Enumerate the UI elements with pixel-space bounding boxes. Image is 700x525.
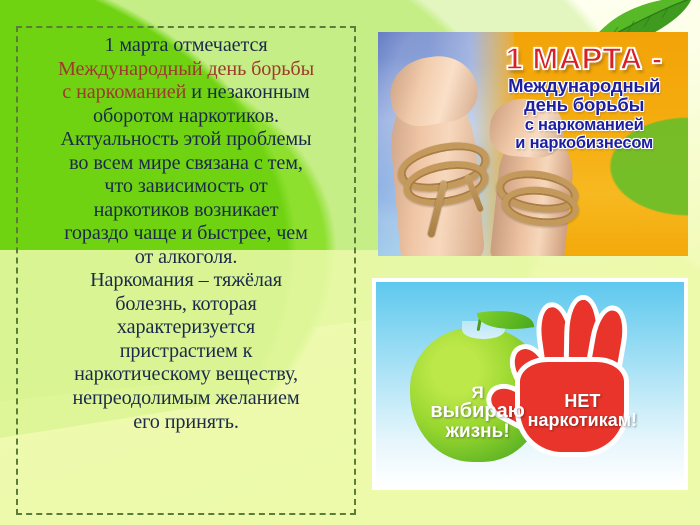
text-line-16: непреодолимым желанием [72,387,299,409]
text-line-8: наркотиков возникает [94,199,279,221]
text-line-17: его принять. [133,411,239,433]
text-line-2: Международный день борьбы [58,58,314,80]
poster-top-headline: 1 МАРТА - [483,43,685,75]
text-line-15: наркотическому веществу, [74,363,298,385]
text-line-1: 1 марта отмечается [104,34,267,56]
hand-line-2: наркотикам! [521,411,644,430]
text-line-7: что зависимость от [104,175,267,197]
text-line-3-tail: и незаконным [186,81,309,103]
poster-top-line5: и наркобизнесом [483,135,685,152]
slide-body-text: 1 марта отмечается Международный день бо… [24,34,348,434]
hand-text-block: НЕТ наркотикам! [521,392,644,429]
text-line-6: во всем мире связана с тем, [69,152,303,174]
poster-top-text-block: 1 МАРТА - Международный день борьбы с на… [483,43,685,152]
text-line-9: гораздо чаще и быстрее, чем [64,222,308,244]
slide-canvas: 1 марта отмечается Международный день бо… [0,0,700,525]
text-line-14: пристрастием к [120,340,253,362]
poster-image-top: 1 МАРТА - Международный день борьбы с на… [378,32,688,256]
text-line-4: оборотом наркотиков. [93,105,279,127]
text-line-12: болезнь, которая [115,293,256,315]
poster-top-line2: Международный [483,77,685,96]
text-line-13: характеризуется [117,316,255,338]
poster-image-bottom: Я выбираю жизнь! НЕТ наркотикам! [372,278,688,490]
hand-line-1: НЕТ [521,392,644,411]
text-line-10: от алкоголя. [135,246,238,268]
text-card: 1 марта отмечается Международный день бо… [16,26,356,515]
poster-top-line4: с наркоманией [483,117,685,134]
text-line-11: Наркомания – тяжёлая [90,269,282,291]
text-line-3-highlight: с наркоманией [62,81,186,103]
text-line-5: Актуальность этой проблемы [60,128,311,150]
poster-top-line3: день борьбы [483,96,685,115]
